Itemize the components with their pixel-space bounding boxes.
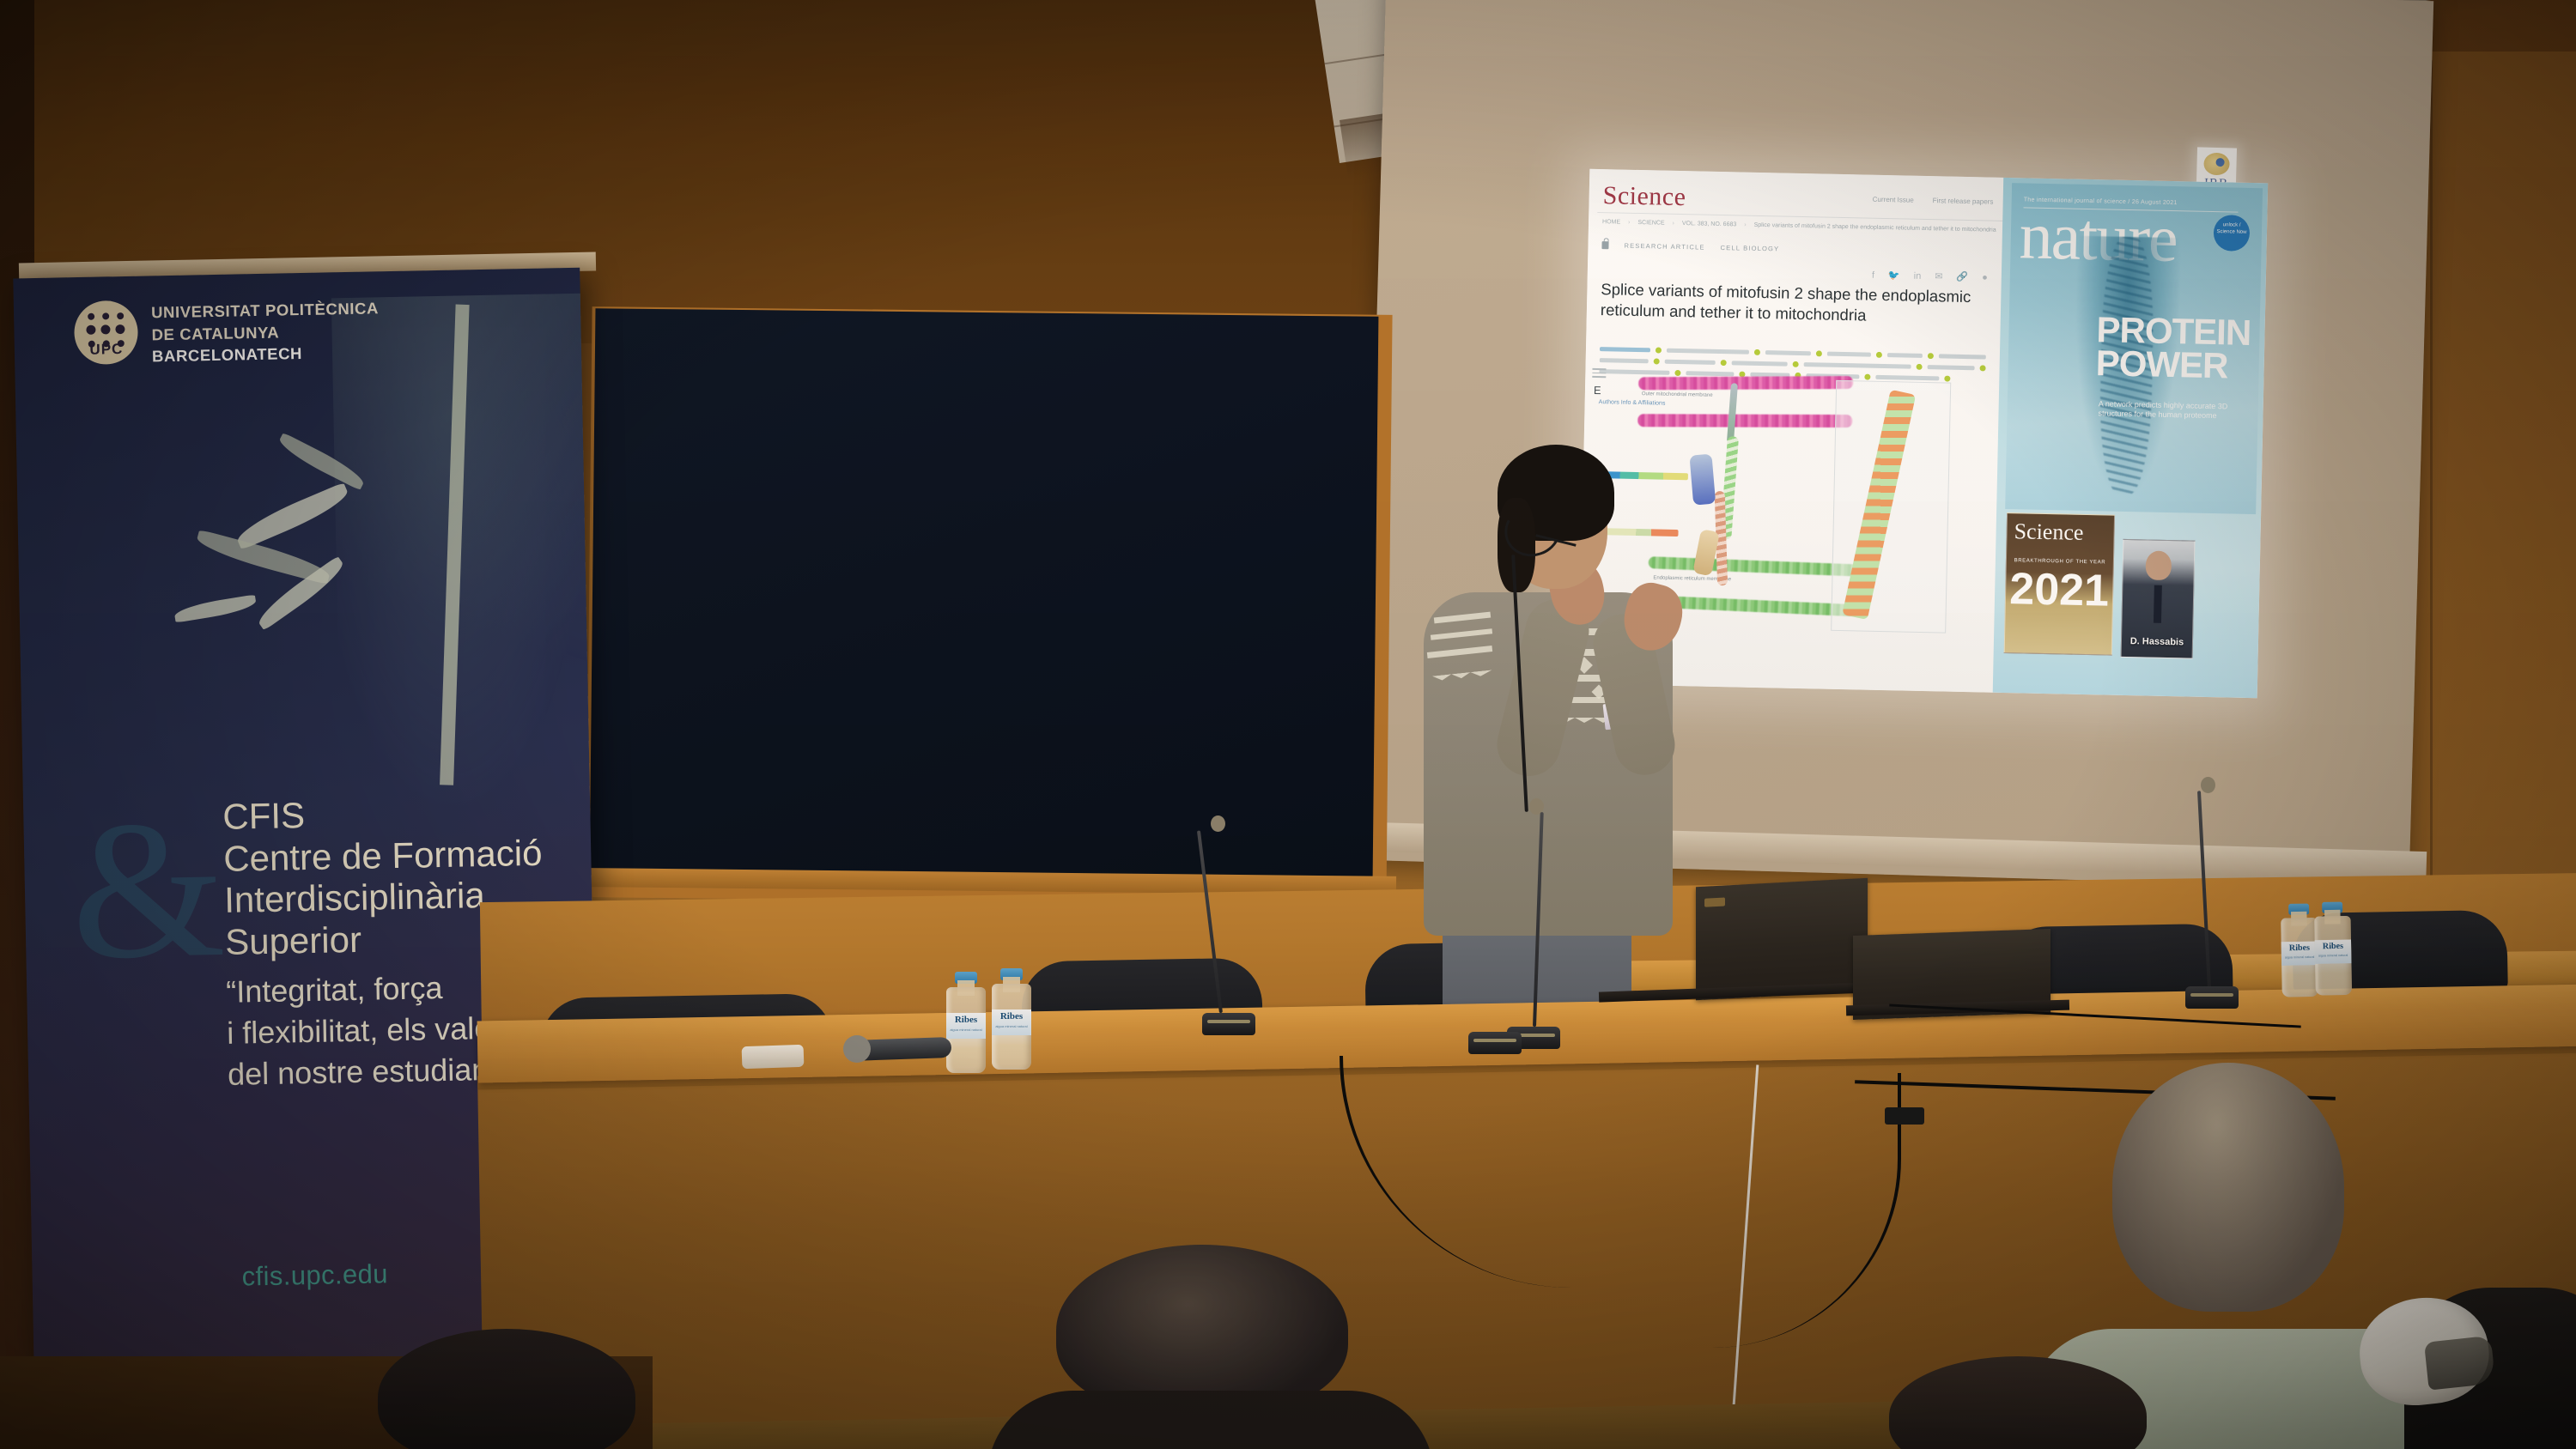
outer-mitochondrial-membrane bbox=[1638, 376, 1853, 390]
desk-microphone[interactable] bbox=[2185, 777, 2239, 1009]
microphone-base bbox=[2185, 986, 2239, 1009]
twitter-icon[interactable]: 🐦 bbox=[1888, 270, 1900, 281]
bottle-label: Ribes aigua mineral natural bbox=[2315, 940, 2352, 964]
authors-affiliations-link[interactable]: Authors Info & Affiliations bbox=[1599, 399, 1666, 407]
banner-leaf bbox=[173, 595, 258, 623]
nature-subhead: A network predicts highly accurate 3D st… bbox=[2098, 399, 2249, 421]
water-bottle[interactable]: Ribes aigua mineral natural bbox=[946, 972, 986, 1073]
cfis-acronym: CFIS bbox=[222, 790, 591, 839]
orcid-icon bbox=[1816, 350, 1822, 356]
microphone-base bbox=[1202, 1013, 1255, 1035]
portrait-caption: D. Hassabis bbox=[2122, 636, 2192, 648]
water-bottle[interactable]: Ribes aigua mineral natural bbox=[2281, 903, 2318, 997]
nature-badge: unlock / Science Now bbox=[2214, 215, 2251, 252]
microphone-head bbox=[1211, 815, 1225, 832]
microphone-stem bbox=[1533, 812, 1544, 1027]
university-line-3: BARCELONATECH bbox=[152, 341, 380, 367]
banner-leaf bbox=[233, 482, 352, 550]
audience-shoulders bbox=[987, 1391, 1434, 1449]
laptop-1[interactable] bbox=[1696, 878, 1868, 1000]
inner-mitochondrial-membrane bbox=[1637, 414, 1852, 427]
blackboard bbox=[590, 308, 1379, 883]
irb-crest-icon bbox=[2203, 153, 2230, 176]
orcid-icon bbox=[1656, 347, 1662, 353]
upc-logo: UPC bbox=[74, 300, 138, 365]
microphone-head bbox=[2201, 777, 2215, 793]
water-bottle[interactable]: Ribes aigua mineral natural bbox=[2314, 901, 2352, 995]
breadcrumb: HOME› SCIENCE› VOL. 383, NO. 6683› Splic… bbox=[1602, 219, 1996, 233]
linkedin-icon[interactable]: in bbox=[1914, 270, 1922, 281]
bottle-brand: Ribes bbox=[992, 1009, 1031, 1024]
desk-microphone[interactable] bbox=[1468, 953, 1522, 1054]
nav-item-current-issue[interactable]: Current Issue bbox=[1873, 196, 1914, 204]
science-logo: Science bbox=[1602, 181, 1686, 212]
orcid-icon bbox=[1944, 375, 1950, 381]
more-icon[interactable]: ● bbox=[1982, 272, 1988, 282]
bottle-sub: aigua mineral natural bbox=[2315, 953, 2351, 957]
bottle-brand: Ribes bbox=[2315, 940, 2352, 954]
desk-microphone[interactable] bbox=[1202, 815, 1255, 1035]
presenter-remote[interactable] bbox=[742, 1045, 805, 1069]
microphone-base bbox=[1468, 1032, 1522, 1054]
breadcrumb-home[interactable]: HOME bbox=[1602, 219, 1620, 225]
figure-caption-top: Outer mitochondrial membrane bbox=[1642, 391, 1713, 398]
microphone-ring bbox=[2190, 993, 2233, 997]
bottle-label: Ribes aigua mineral natural bbox=[946, 1013, 986, 1039]
upc-logo-text: UPC bbox=[75, 341, 138, 359]
article-type: RESEARCH ARTICLE bbox=[1624, 242, 1704, 252]
link-icon[interactable]: 🔗 bbox=[1956, 271, 1968, 282]
microphone-ring bbox=[1207, 1020, 1250, 1023]
microphone-stem bbox=[2197, 791, 2211, 988]
nature-headline: PROTEIN POWER bbox=[2095, 313, 2251, 383]
bottle-sub: aigua mineral natural bbox=[992, 1024, 1031, 1028]
orcid-icon bbox=[1927, 353, 1933, 359]
bottle-label: Ribes aigua mineral natural bbox=[992, 1009, 1031, 1035]
orcid-icon bbox=[1917, 364, 1923, 370]
orcid-icon bbox=[1654, 358, 1660, 364]
bottle-sub: aigua mineral natural bbox=[2281, 955, 2318, 959]
cable-connector bbox=[1885, 1107, 1924, 1125]
article-title: Splice variants of mitofusin 2 shape the… bbox=[1601, 279, 1986, 328]
cfis-url[interactable]: cfis.upc.edu bbox=[241, 1258, 388, 1292]
breadcrumb-article: Splice variants of mitofusin 2 shape the… bbox=[1754, 222, 1996, 233]
water-bottle[interactable]: Ribes aigua mineral natural bbox=[992, 968, 1031, 1070]
nature-cover: The international journal of science / 2… bbox=[2005, 183, 2263, 514]
hassabis-portrait: D. Hassabis bbox=[2121, 539, 2196, 659]
handheld-microphone-head bbox=[843, 1035, 871, 1063]
orcid-icon bbox=[1980, 365, 1986, 371]
lenovo-logo bbox=[1704, 897, 1725, 906]
orcid-icon bbox=[1792, 361, 1798, 367]
breadcrumb-volume[interactable]: VOL. 383, NO. 6683 bbox=[1682, 221, 1737, 227]
nav-item-first-release[interactable]: First release papers bbox=[1933, 197, 1994, 205]
share-row: f 🐦 in ✉ 🔗 ● bbox=[1872, 270, 1988, 283]
figure-panel-label: E bbox=[1594, 384, 1601, 397]
mail-icon[interactable]: ✉ bbox=[1935, 270, 1942, 282]
figure-menu-icon[interactable] bbox=[1592, 368, 1606, 380]
bottle-sub: aigua mineral natural bbox=[946, 1028, 986, 1032]
portrait-head bbox=[2145, 550, 2172, 580]
university-line-1: UNIVERSITAT POLITÈCNICA bbox=[151, 297, 379, 324]
science-2021-year: 2021 bbox=[2006, 567, 2113, 614]
photograph-scene: IRB Barcelona Institute for Research in … bbox=[0, 0, 2576, 1449]
science-2021-cover: Science BREAKTHROUGH OF THE YEAR 2021 bbox=[2004, 512, 2115, 656]
article-section: CELL BIOLOGY bbox=[1720, 244, 1779, 252]
portrait-tie bbox=[2154, 585, 2162, 623]
microphone-ring bbox=[1473, 1039, 1516, 1042]
university-name: UNIVERSITAT POLITÈCNICA DE CATALUNYA BAR… bbox=[151, 297, 380, 367]
bottle-label: Ribes aigua mineral natural bbox=[2281, 942, 2318, 966]
orcid-icon bbox=[1876, 352, 1882, 358]
facebook-icon[interactable]: f bbox=[1872, 270, 1874, 280]
article-meta: RESEARCH ARTICLE CELL BIOLOGY bbox=[1601, 241, 1779, 252]
orcid-icon bbox=[1864, 374, 1870, 380]
orcid-icon bbox=[1754, 349, 1760, 355]
cfis-name-line-1: Centre de Formació bbox=[223, 831, 592, 880]
nature-headline-line2: POWER bbox=[2095, 343, 2228, 385]
orcid-icon bbox=[1720, 360, 1726, 366]
ampersand-mark: & bbox=[70, 790, 227, 990]
science-2021-masthead: Science bbox=[2014, 518, 2083, 546]
lock-icon bbox=[1601, 241, 1608, 249]
breadcrumb-science[interactable]: SCIENCE bbox=[1637, 220, 1664, 227]
audience-head bbox=[2112, 1063, 2344, 1312]
bottle-brand: Ribes bbox=[946, 1013, 986, 1028]
orcid-icon bbox=[1674, 370, 1680, 376]
bottle-brand: Ribes bbox=[2281, 942, 2318, 955]
